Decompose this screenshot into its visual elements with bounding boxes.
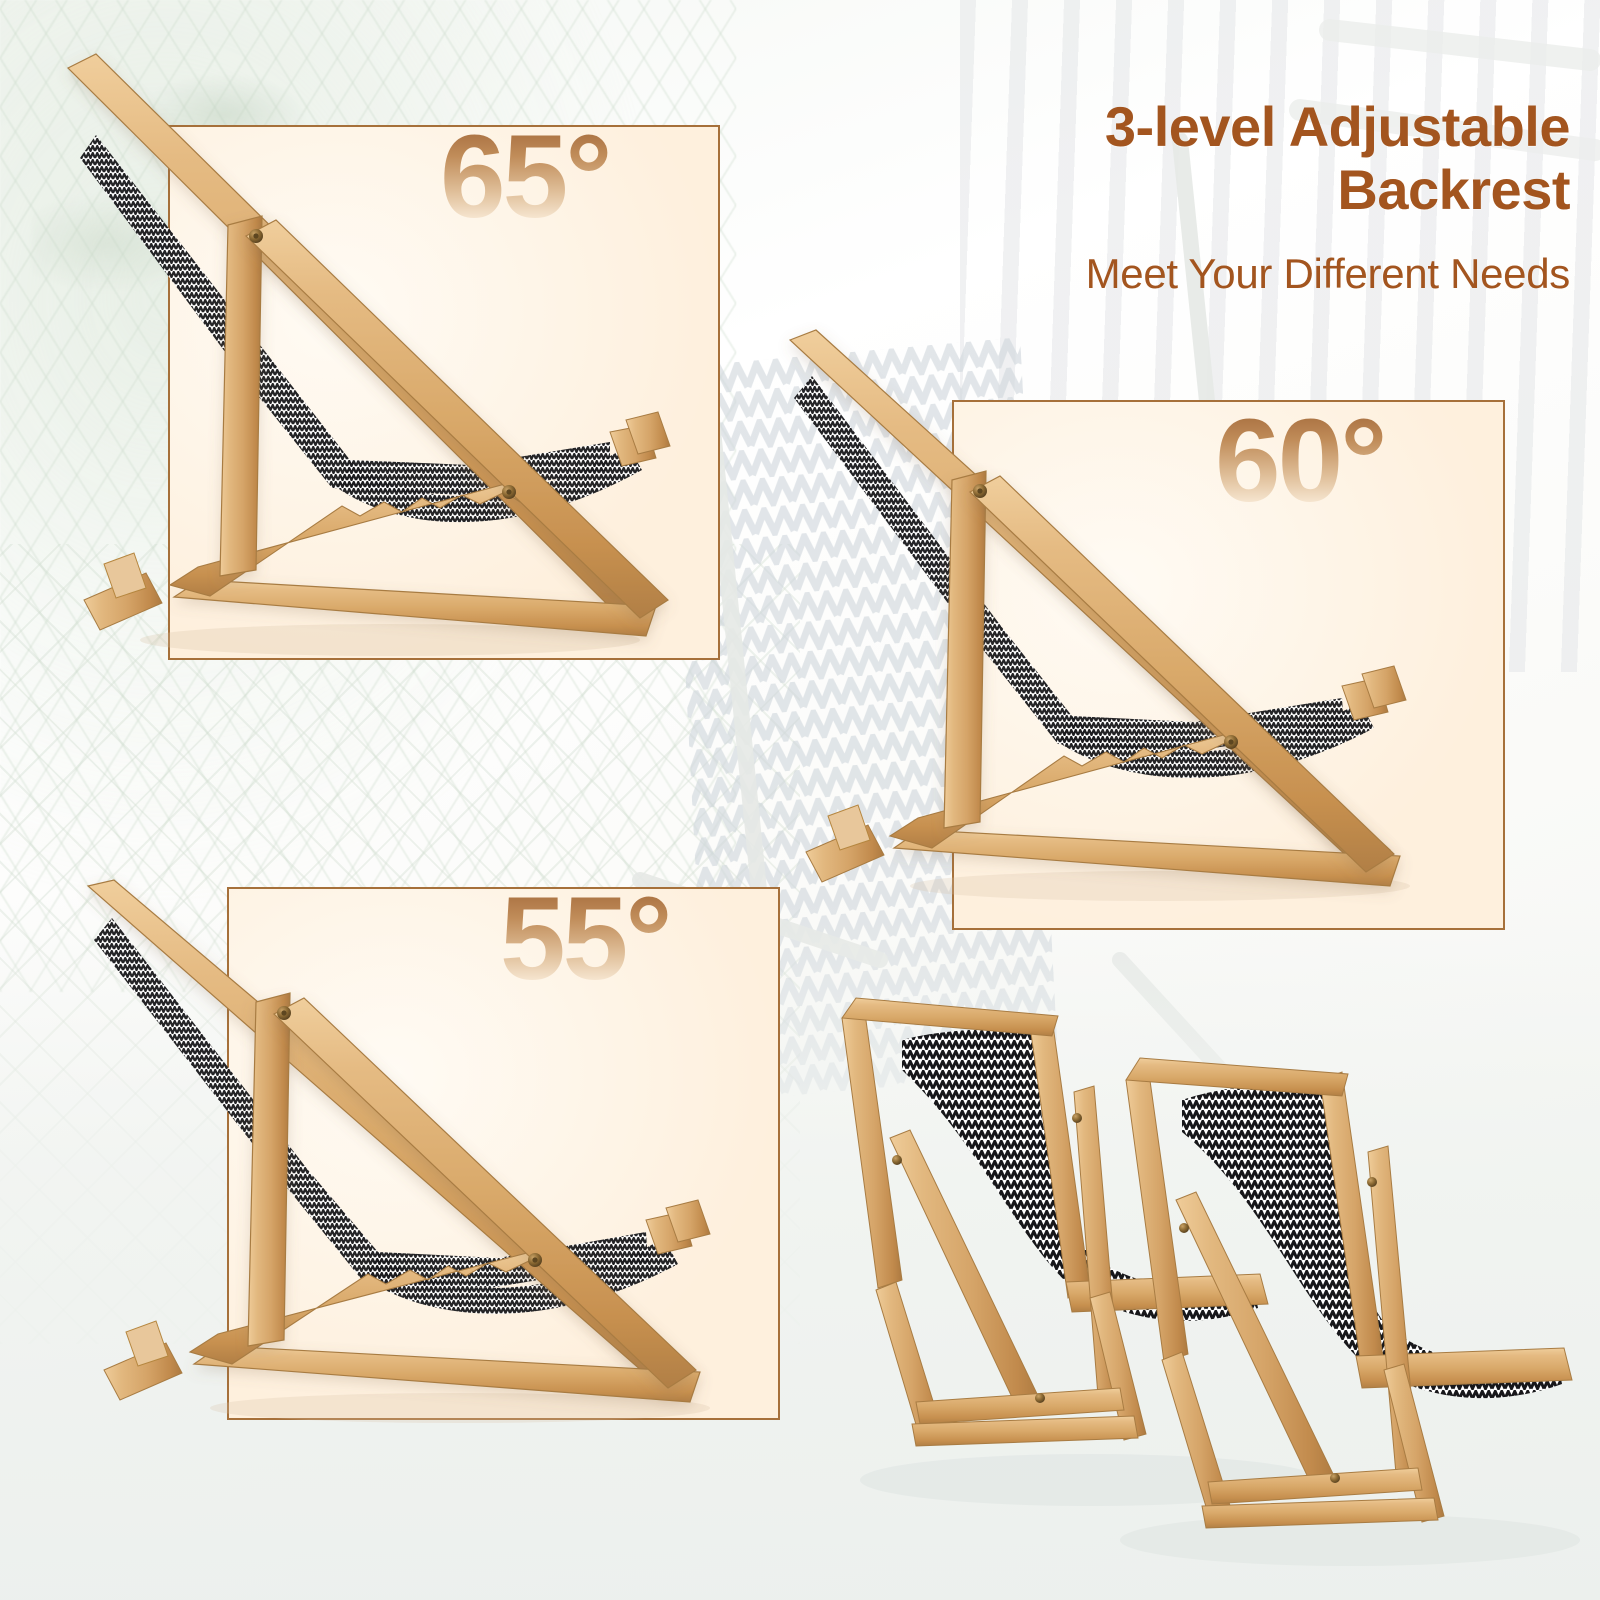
chair-illustration-55	[60, 880, 800, 1440]
headline-line-2: Backrest	[840, 159, 1570, 222]
headline-block: 3-level Adjustable Backrest Meet Your Di…	[840, 96, 1570, 298]
chair-illustration-60	[790, 330, 1520, 920]
angle-label-60: 60°	[1215, 402, 1384, 520]
angle-label-65: 65°	[440, 118, 609, 236]
chair-illustration-65	[50, 40, 750, 680]
angle-label-55: 55°	[500, 880, 669, 998]
page-title: 3-level Adjustable Backrest	[840, 96, 1570, 221]
headline-line-1: 3-level Adjustable	[840, 96, 1570, 159]
page-subtitle: Meet Your Different Needs	[840, 251, 1570, 297]
two-sling-chairs-photo	[790, 960, 1590, 1580]
